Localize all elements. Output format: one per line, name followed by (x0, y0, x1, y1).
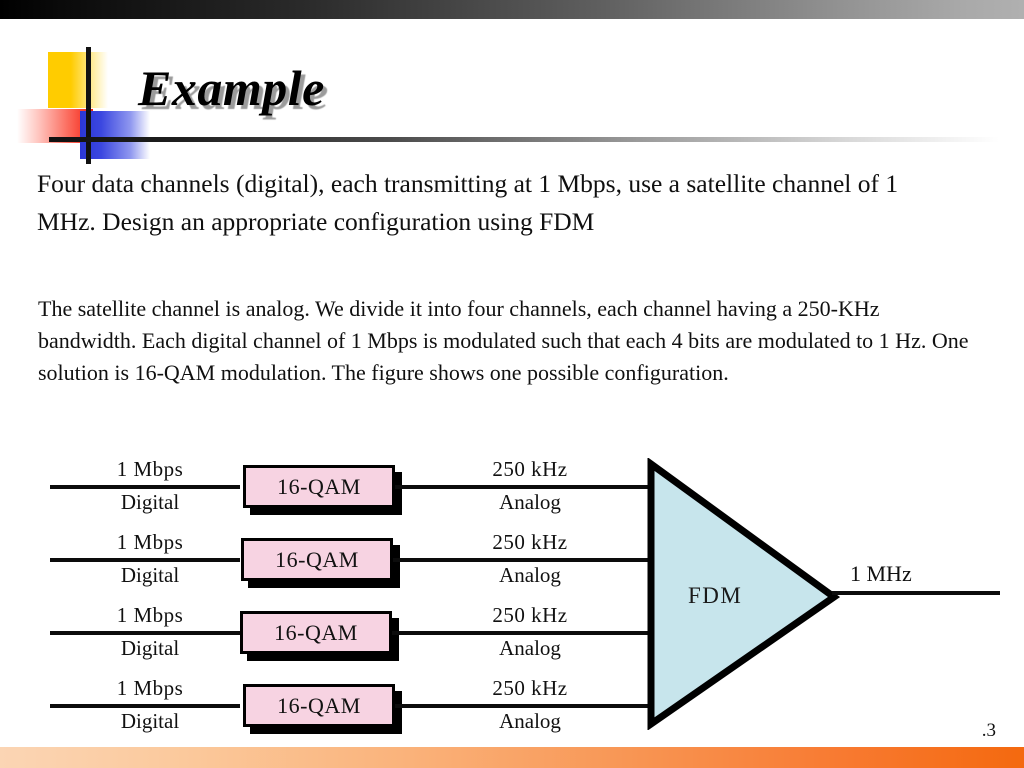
header-divider-rule (49, 137, 999, 142)
channel-3-input-rate-label: 1 Mbps (60, 603, 240, 628)
channel-4-output-rate-label: 250 kHz (455, 676, 605, 701)
channel-1-output-line (395, 485, 651, 489)
channel-3-input-type-label: Digital (60, 636, 240, 661)
slide-header: Example (0, 19, 1024, 139)
channel-2-input-rate-label: 1 Mbps (60, 530, 240, 555)
channel-2-output-line (393, 558, 651, 562)
top-accent-bar (0, 0, 1024, 19)
channel-3-output-line (392, 631, 651, 635)
fdm-triangle-icon (645, 458, 840, 730)
output-trunk-line (832, 591, 1000, 595)
channel-1-input-rate-label: 1 Mbps (60, 457, 240, 482)
logo-yellow-square (48, 52, 108, 108)
channel-1-modulator[interactable]: 16-QAM (243, 465, 395, 508)
channel-1-modulator-label: 16-QAM (277, 474, 361, 500)
channel-3-input-line (50, 631, 240, 635)
output-rate-label: 1 MHz (850, 561, 912, 587)
logo-vertical-rule (86, 47, 91, 164)
channel-2-input-type-label: Digital (60, 563, 240, 588)
channel-2-output-rate-label: 250 kHz (455, 530, 605, 555)
solution-paragraph: The satellite channel is analog. We divi… (38, 293, 973, 389)
channel-3-output-rate-label: 250 kHz (455, 603, 605, 628)
channel-4-output-line (395, 704, 651, 708)
channel-3-output-type-label: Analog (455, 636, 605, 661)
bottom-accent-bar (0, 747, 1024, 768)
channel-4-output-type-label: Analog (455, 709, 605, 734)
fdm-multiplexer-label: FDM (688, 583, 742, 609)
channel-4-input-type-label: Digital (60, 709, 240, 734)
channel-1-input-line (50, 485, 240, 489)
page-number: .3 (982, 720, 996, 742)
channel-4-modulator[interactable]: 16-QAM (243, 684, 395, 727)
channel-4-input-line (50, 704, 240, 708)
channel-1-output-rate-label: 250 kHz (455, 457, 605, 482)
channel-4-modulator-label: 16-QAM (277, 693, 361, 719)
channel-2-modulator[interactable]: 16-QAM (241, 538, 393, 581)
intro-paragraph: Four data channels (digital), each trans… (37, 165, 942, 241)
channel-2-modulator-label: 16-QAM (275, 547, 359, 573)
channel-3-modulator-label: 16-QAM (274, 620, 358, 646)
page-title: Example (138, 59, 325, 117)
channel-3-modulator[interactable]: 16-QAM (240, 611, 392, 654)
fdm-multiplexer[interactable] (645, 458, 840, 730)
channel-1-output-type-label: Analog (455, 490, 605, 515)
channel-1-input-type-label: Digital (60, 490, 240, 515)
channel-2-output-type-label: Analog (455, 563, 605, 588)
channel-2-input-line (50, 558, 240, 562)
channel-4-input-rate-label: 1 Mbps (60, 676, 240, 701)
